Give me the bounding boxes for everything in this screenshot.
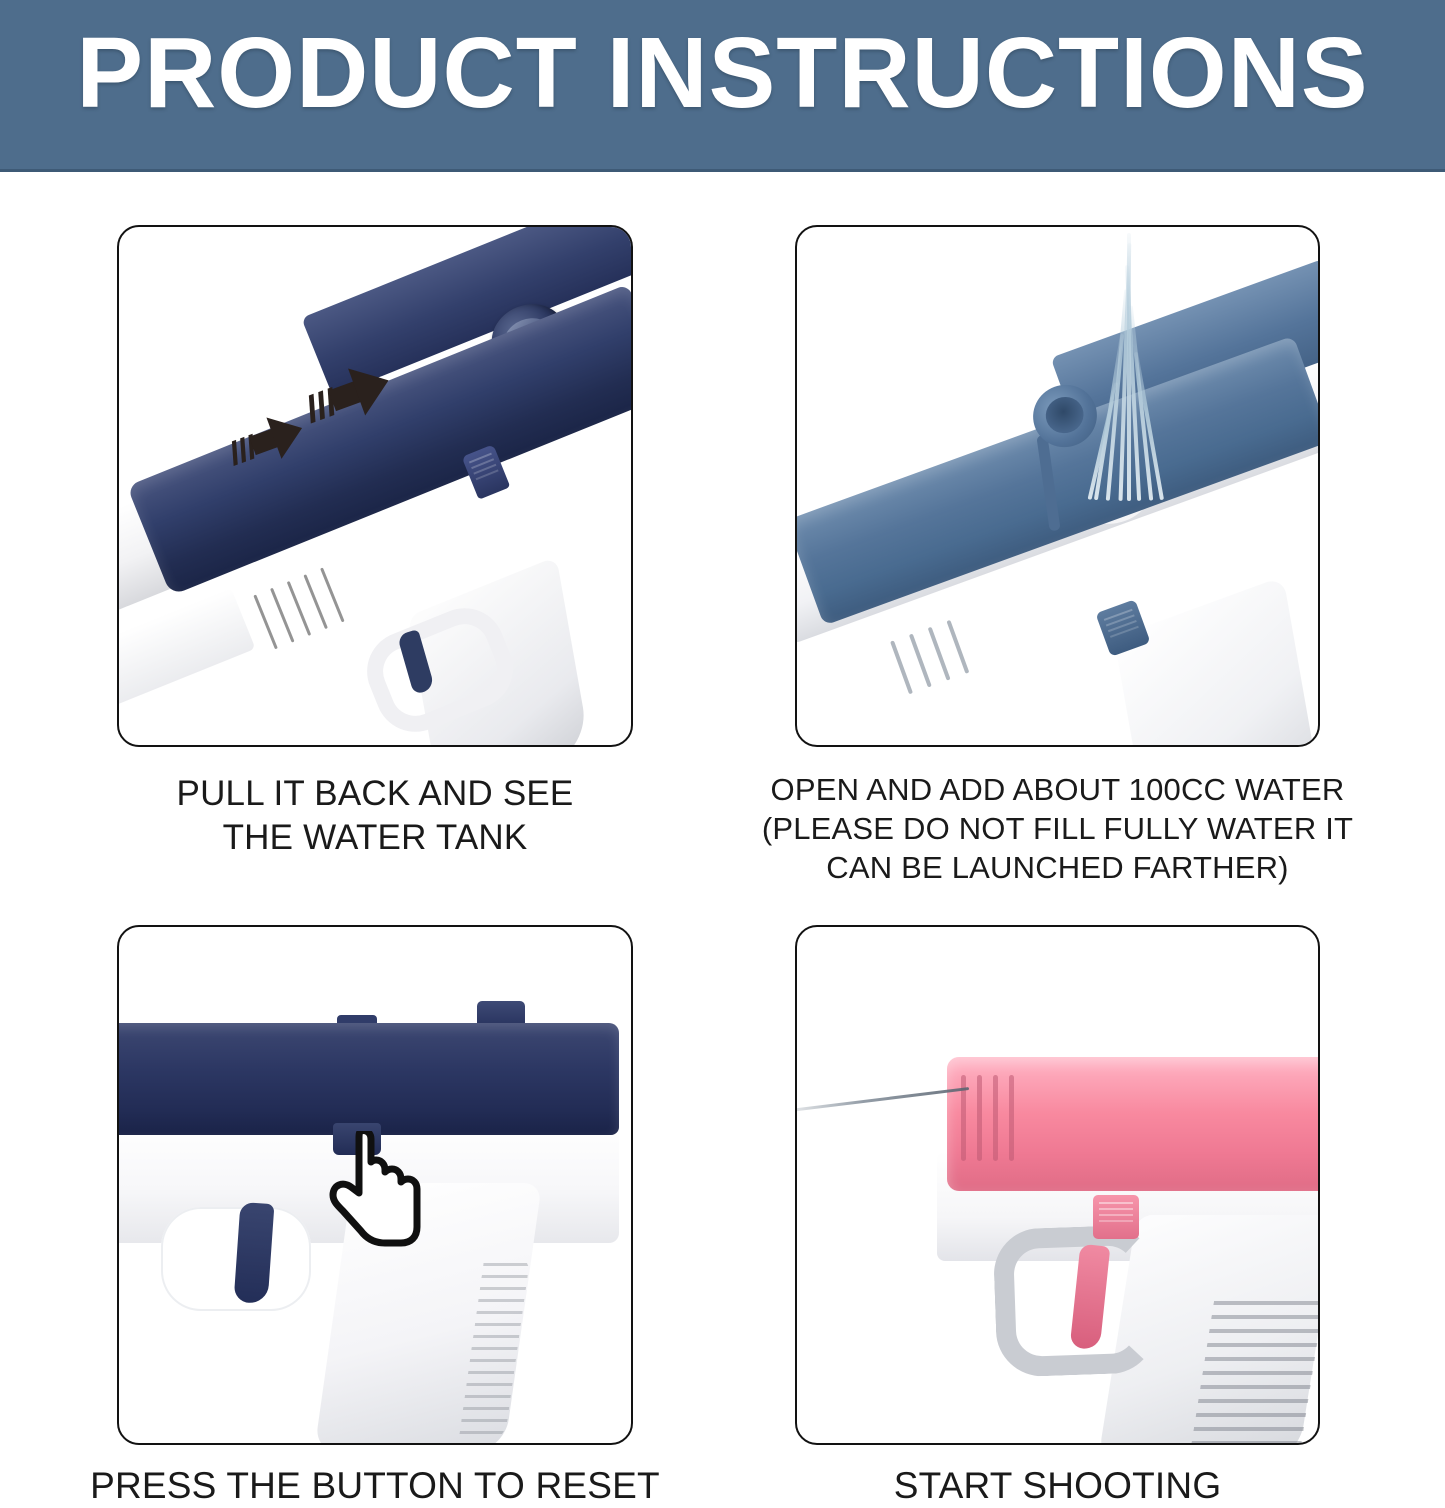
page-title: PRODUCT INSTRUCTIONS [0, 18, 1445, 128]
step-4-caption: START SHOOTING [800, 1464, 1315, 1508]
header-banner: PRODUCT INSTRUCTIONS [0, 0, 1445, 172]
step-1 [117, 225, 633, 747]
hand-pointer-icon [329, 1131, 425, 1247]
water-gun-steelblue-illustration [797, 227, 1318, 745]
slide-serrations [250, 561, 361, 651]
gun-slide [117, 1023, 619, 1135]
water-gun-pink-illustration [797, 927, 1318, 1443]
step-4 [795, 925, 1320, 1445]
instruction-steps-grid: PULL IT BACK AND SEE THE WATER TANK [0, 172, 1445, 1496]
step-3-caption: PRESS THE BUTTON TO RESET [20, 1464, 730, 1508]
slide-release-knob [1093, 1195, 1139, 1239]
step-1-caption: PULL IT BACK AND SEE THE WATER TANK [60, 772, 690, 860]
step-4-photo [795, 925, 1320, 1445]
step-2-caption: OPEN AND ADD ABOUT 100CC WATER (PLEASE D… [745, 770, 1370, 887]
step-2 [795, 225, 1320, 747]
water-gun-navy-side-illustration [119, 927, 631, 1443]
water-stream [1077, 231, 1187, 501]
gun-grip [1114, 576, 1320, 747]
water-gun-navy-illustration [119, 227, 631, 745]
gun-barrel [117, 587, 256, 708]
water-jet [795, 1069, 971, 1107]
step-3-photo [117, 925, 633, 1445]
step-2-photo [795, 225, 1320, 747]
step-3 [117, 925, 633, 1445]
step-1-photo [117, 225, 633, 747]
slide-serrations [888, 611, 994, 695]
